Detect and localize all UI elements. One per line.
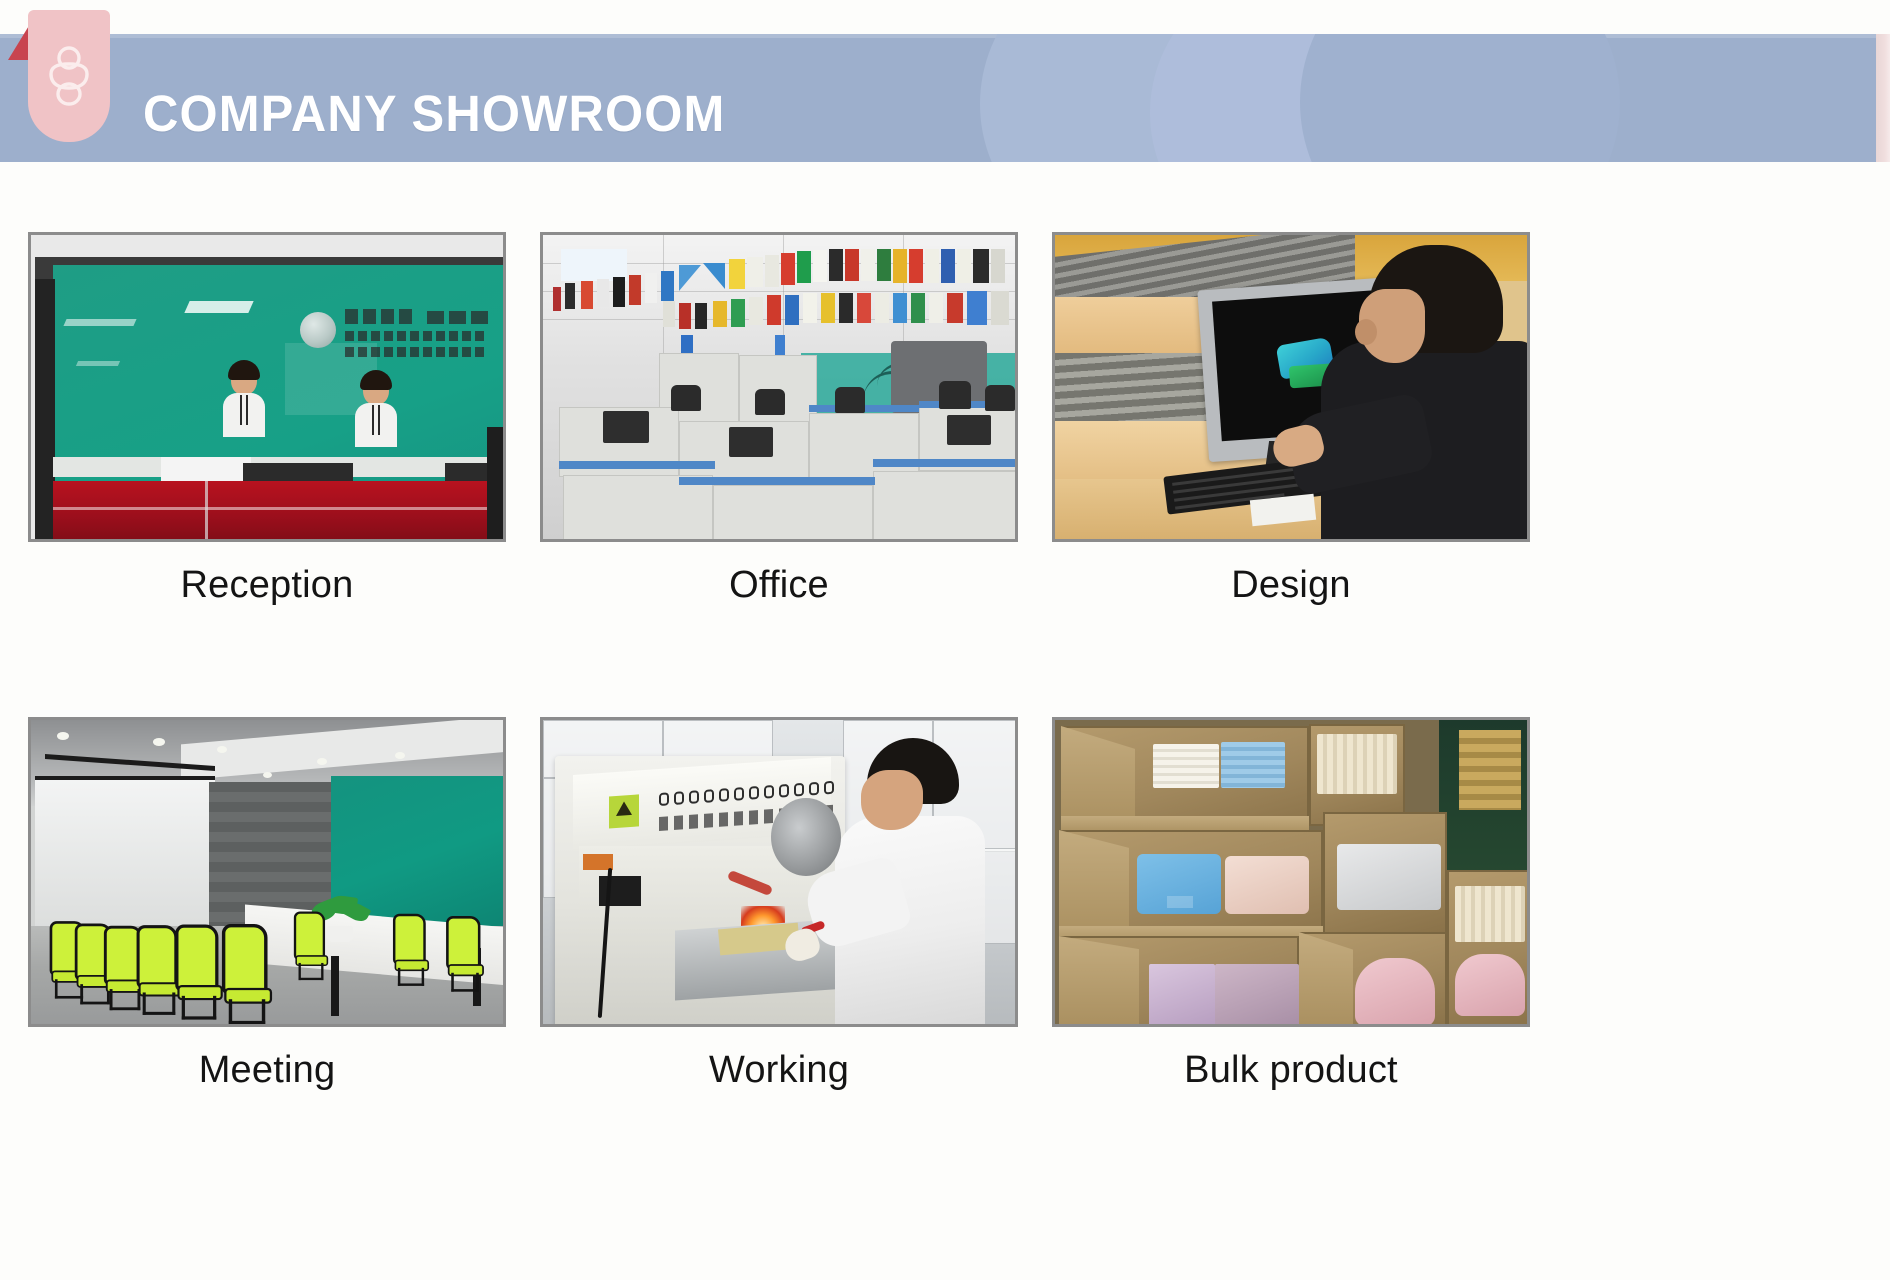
reception-right-column [487, 427, 506, 542]
person-head [231, 365, 257, 395]
product-stack-cream [1455, 886, 1525, 942]
ceiling-downlight [317, 758, 327, 765]
office-flag [991, 291, 1009, 325]
office-flag [877, 249, 891, 281]
office-chair [671, 385, 701, 411]
cubicle-blue-trim [873, 459, 1018, 467]
office-flag [785, 295, 799, 325]
ceiling-downlight [395, 752, 405, 759]
office-chair [835, 387, 865, 413]
office-flag [957, 249, 971, 283]
caption-reception: Reception [28, 564, 506, 607]
warehouse-shelf [1459, 730, 1521, 810]
warning-label [609, 794, 639, 828]
product-stack-clear-pack [1337, 844, 1441, 910]
office-flag [749, 297, 763, 325]
office-flag [765, 255, 779, 287]
office-flag [941, 249, 955, 283]
office-cubicle [873, 471, 1018, 542]
office-monitor [947, 415, 991, 445]
office-flag [613, 277, 625, 307]
person-torso [223, 393, 265, 437]
caption-meeting: Meeting [28, 1049, 506, 1092]
page-title: COMPANY SHOWROOM [143, 84, 725, 143]
ceiling-downlight [217, 746, 227, 753]
person-torso [355, 403, 397, 447]
product-stack-pink [1225, 856, 1309, 914]
office-flag [893, 249, 907, 283]
lanyard [240, 395, 248, 425]
reception-wall-lettering [345, 309, 495, 364]
office-cubicle [809, 413, 919, 479]
desk-paper [161, 457, 251, 481]
office-flag [797, 251, 811, 283]
person-face [861, 770, 923, 830]
receptionist-person [223, 365, 265, 437]
product-label [1167, 896, 1193, 908]
desk-black-panel [243, 463, 353, 481]
photo-office[interactable] [540, 232, 1018, 542]
office-monitor [603, 411, 649, 443]
office-chair [755, 389, 785, 415]
office-flag [553, 287, 561, 311]
office-flag [629, 275, 641, 305]
office-flag [967, 291, 987, 325]
reception-light-reflection [184, 301, 253, 313]
cubicle-blue-trim [679, 477, 875, 485]
office-flag [813, 250, 827, 282]
logo-badge [28, 10, 110, 142]
ceiling-downlight [57, 732, 69, 740]
office-flag [781, 253, 795, 285]
office-flag [893, 293, 907, 323]
photo-meeting[interactable] [28, 717, 506, 1027]
office-flag [731, 299, 745, 327]
designer-person [1307, 245, 1530, 542]
reception-desk-red-front [53, 481, 505, 542]
meeting-chair [294, 911, 328, 978]
page-header: COMPANY SHOWROOM [0, 34, 1890, 162]
office-flag [645, 273, 657, 303]
pacifier-icon [41, 34, 97, 119]
office-monitor [729, 427, 773, 457]
warning-triangle-icon [616, 801, 632, 816]
reception-light-reflection [63, 319, 136, 326]
office-flag [661, 271, 674, 301]
cubicle-blue-trim [559, 461, 715, 469]
reception-company-seal [300, 312, 336, 348]
reception-light-reflection [76, 361, 120, 366]
office-flag [679, 303, 691, 329]
meeting-chair [393, 914, 429, 985]
office-flag [821, 293, 835, 323]
office-flag [875, 293, 889, 323]
office-flag [911, 293, 925, 323]
office-flag [803, 293, 817, 323]
gallery-item-bulk-product[interactable]: Bulk product [1052, 717, 1530, 1092]
office-chair [985, 385, 1015, 411]
product-stack-blue [1221, 742, 1285, 788]
office-cubicle [713, 485, 873, 542]
office-flag [581, 281, 593, 309]
caption-design: Design [1052, 564, 1530, 607]
photo-design[interactable] [1052, 232, 1530, 542]
product-stack-white [1153, 744, 1219, 788]
product-stack-cream [1317, 734, 1397, 794]
meeting-chair [175, 925, 223, 1018]
photo-working[interactable] [540, 717, 1018, 1027]
office-flag [909, 249, 923, 283]
caption-bulk-product: Bulk product [1052, 1049, 1530, 1092]
office-flag [747, 257, 763, 287]
office-flag [829, 249, 843, 281]
band-right-edge-stripe [1876, 34, 1890, 162]
logo-ribbon-fold [8, 24, 30, 60]
receptionist-person [355, 375, 397, 447]
caption-office: Office [540, 564, 1018, 607]
office-flag [925, 249, 939, 283]
office-flag [947, 293, 963, 323]
office-flag [929, 293, 943, 323]
office-flag [839, 293, 853, 323]
meeting-chair [446, 916, 484, 990]
product-stack-lilac [1149, 964, 1215, 1026]
gallery-item-reception[interactable]: Reception [28, 232, 506, 607]
office-flag [713, 301, 727, 327]
person-ear [1355, 319, 1377, 345]
meeting-projection-screen [35, 776, 215, 928]
welding-shield [771, 798, 841, 876]
photo-bulk-product[interactable] [1052, 717, 1530, 1027]
gallery-item-design[interactable]: Design [1052, 232, 1530, 607]
office-flag [857, 293, 871, 323]
reception-wall-frame [35, 257, 503, 542]
gallery-row: Reception [28, 232, 1862, 607]
office-flag [767, 295, 781, 325]
caption-working: Working [540, 1049, 1018, 1092]
meeting-chair [222, 924, 272, 1022]
office-flag [861, 249, 875, 281]
office-flag [991, 249, 1005, 283]
office-flag [973, 249, 989, 283]
office-flag [729, 259, 745, 289]
office-flag [565, 283, 575, 309]
ceiling-downlight [263, 772, 272, 778]
gallery-row: Meeting [28, 717, 1862, 1092]
table-leg [331, 956, 339, 1016]
band-decorative-circle [1300, 34, 1620, 162]
showroom-gallery: Reception [28, 232, 1862, 1092]
photo-reception[interactable] [28, 232, 506, 542]
gallery-item-working[interactable]: Working [540, 717, 1018, 1092]
box-flap [1059, 936, 1139, 1027]
product-stack-pink [1355, 958, 1435, 1026]
office-chair [939, 381, 971, 409]
worker-person [819, 738, 1018, 1027]
office-flag [663, 301, 675, 327]
product-stack-mauve [1215, 964, 1299, 1026]
gallery-item-meeting[interactable]: Meeting [28, 717, 506, 1092]
office-flag [597, 279, 609, 307]
lanyard [372, 405, 380, 435]
office-cubicle [563, 475, 713, 542]
product-stack-pink [1455, 954, 1525, 1016]
office-flag [845, 249, 859, 281]
gallery-item-office[interactable]: Office [540, 232, 1018, 607]
office-flag [695, 303, 707, 329]
ceiling-downlight [153, 738, 165, 746]
reception-left-column [35, 279, 55, 542]
person-head [363, 375, 389, 405]
